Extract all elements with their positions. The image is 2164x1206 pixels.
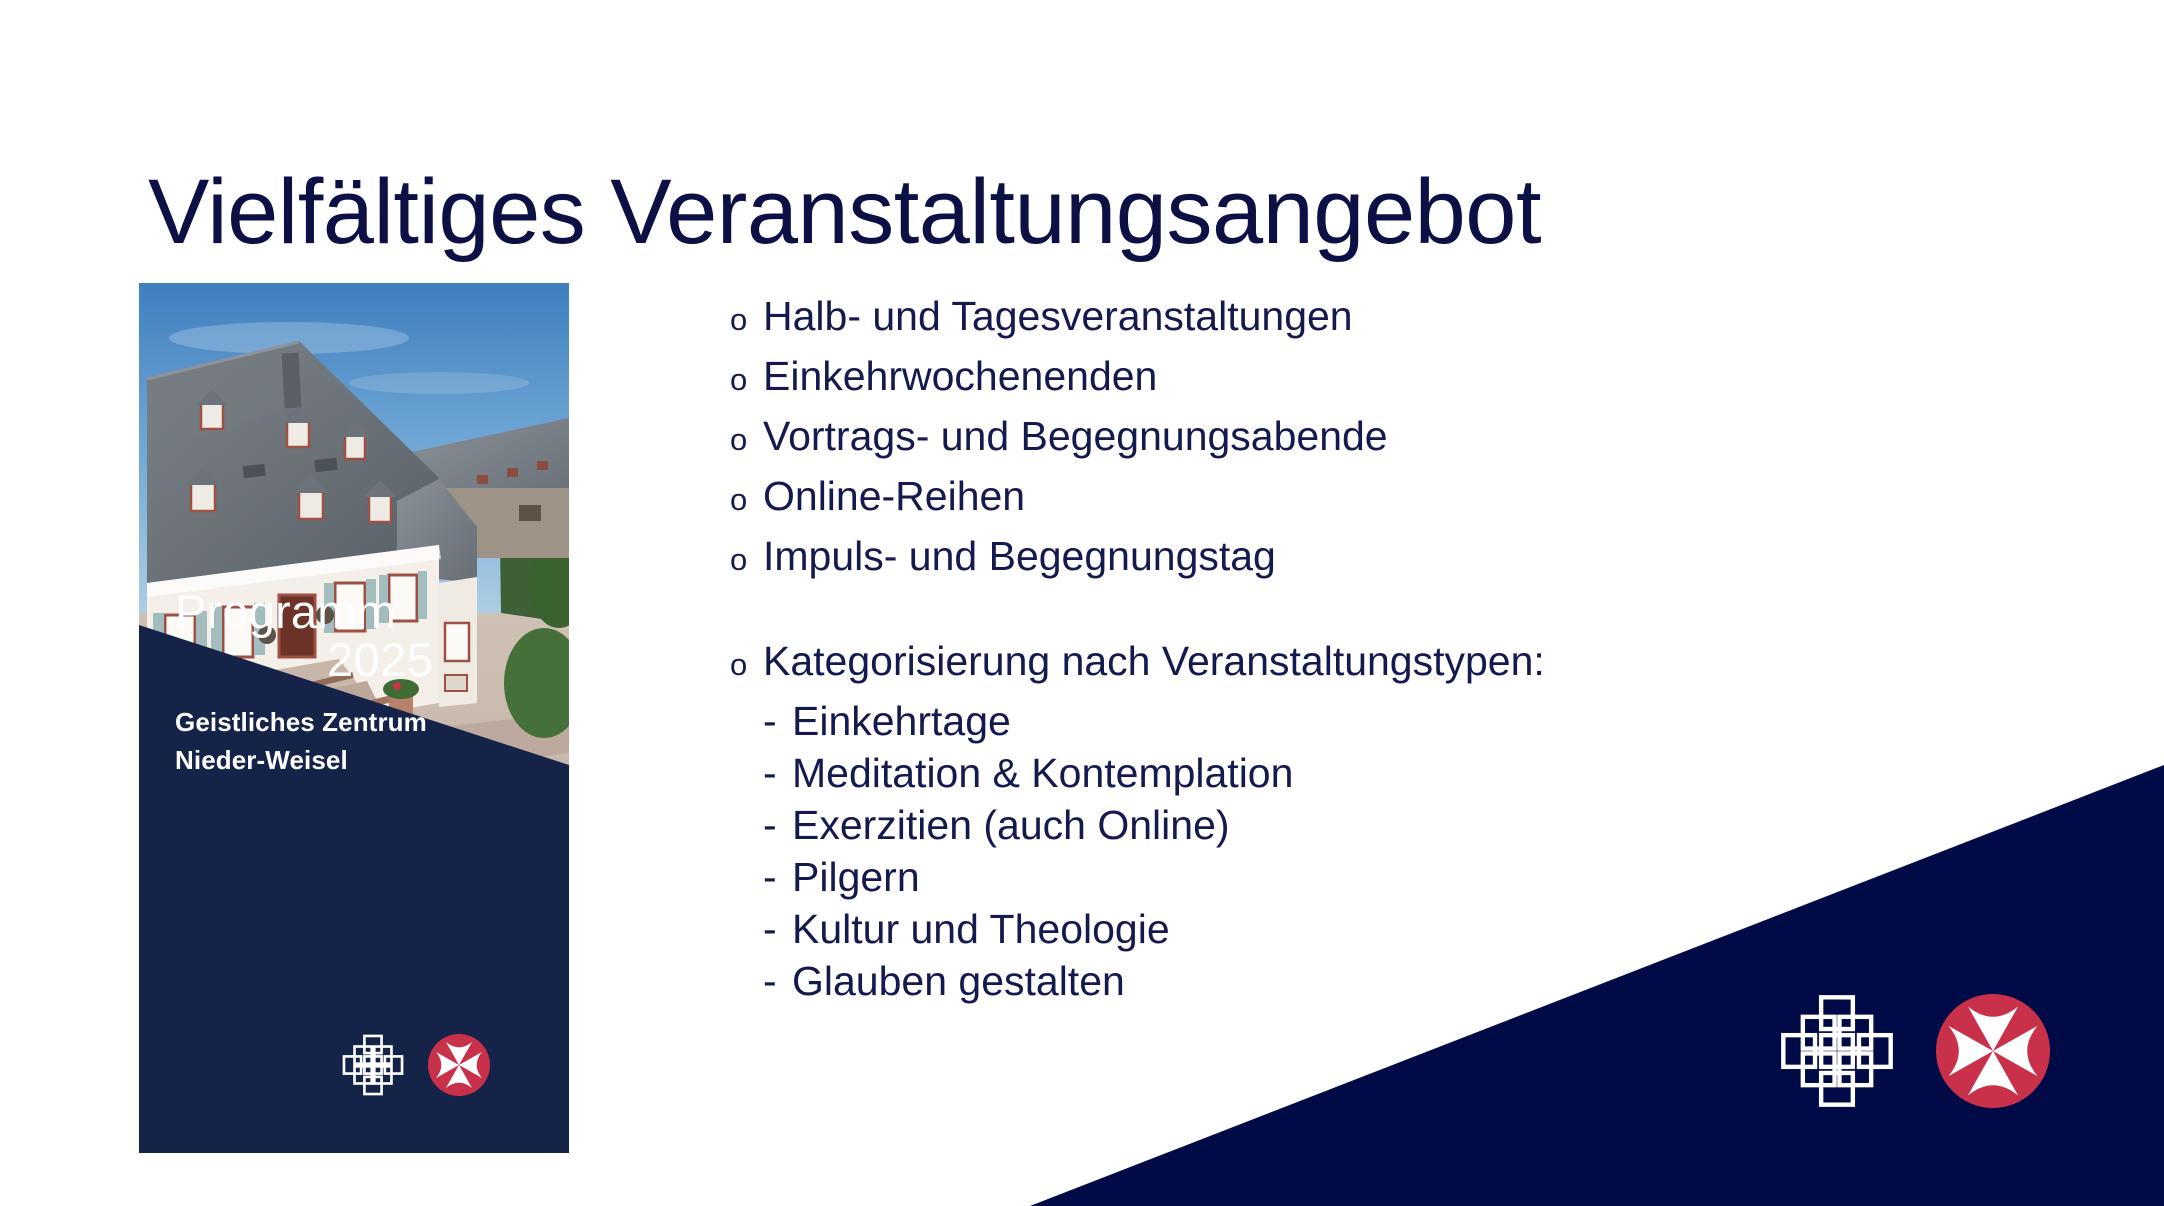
johanniter-cross-logo xyxy=(1776,990,1898,1112)
list-item-label: Impuls- und Begegnungstag xyxy=(763,536,1990,577)
booklet-year-label: 2025 xyxy=(175,635,535,684)
list-item-label: Einkehrwochenenden xyxy=(763,356,1990,397)
booklet-logo-group xyxy=(340,1032,490,1098)
bullet-circle-icon: o xyxy=(730,649,763,680)
list-item-label: Vortrags- und Begegnungsabende xyxy=(763,416,1990,457)
event-offer-list: o Halb- und Tagesveranstaltungen o Einke… xyxy=(730,296,1990,1013)
list-item: o Online-Reihen xyxy=(730,476,1990,517)
list-item: o Einkehrwochenenden xyxy=(730,356,1990,397)
malteser-cross-logo xyxy=(1936,994,2050,1108)
dash-icon: - xyxy=(763,909,792,950)
sub-list-item-label: Kultur und Theologie xyxy=(792,909,1170,950)
slide-canvas: Vielfältiges Veranstaltungsangebot xyxy=(0,0,2164,1206)
sub-list-item: - Meditation & Kontemplation xyxy=(730,753,1990,794)
sub-list-item: - Kultur und Theologie xyxy=(730,909,1990,950)
bullet-circle-icon: o xyxy=(730,364,763,395)
sub-list-item-label: Einkehrtage xyxy=(792,701,1011,742)
johanniter-cross-logo xyxy=(340,1032,406,1098)
booklet-programm-label: Programm xyxy=(175,588,535,635)
list-item-categorisation: o Kategorisierung nach Veranstaltungstyp… xyxy=(730,641,1990,682)
sub-list-item-label: Pilgern xyxy=(792,857,920,898)
booklet-org-line-2: Nieder-Weisel xyxy=(175,742,535,780)
sub-list-item: - Einkehrtage xyxy=(730,701,1990,742)
bullet-circle-icon: o xyxy=(730,484,763,515)
list-group-spacer xyxy=(730,596,1990,641)
dash-icon: - xyxy=(763,753,792,794)
programme-booklet-cover: Programm 2025 Geistliches Zentrum Nieder… xyxy=(139,283,569,1153)
list-item: o Halb- und Tagesveranstaltungen xyxy=(730,296,1990,337)
list-item-label: Halb- und Tagesveranstaltungen xyxy=(763,296,1990,337)
dash-icon: - xyxy=(763,701,792,742)
bullet-circle-icon: o xyxy=(730,304,763,335)
sub-list-item-label: Meditation & Kontemplation xyxy=(792,753,1293,794)
sub-list-item-label: Glauben gestalten xyxy=(792,961,1125,1002)
bullet-circle-icon: o xyxy=(730,424,763,455)
malteser-cross-logo xyxy=(428,1034,490,1096)
dash-icon: - xyxy=(763,857,792,898)
corner-logo-group xyxy=(1776,990,2050,1112)
sub-list-item-label: Exerzitien (auch Online) xyxy=(792,805,1230,846)
booklet-org-line-1: Geistliches Zentrum xyxy=(175,704,535,742)
booklet-title-block: Programm 2025 Geistliches Zentrum Nieder… xyxy=(175,588,535,780)
list-item: o Vortrags- und Begegnungsabende xyxy=(730,416,1990,457)
list-item-label: Online-Reihen xyxy=(763,476,1990,517)
dash-icon: - xyxy=(763,961,792,1002)
dash-icon: - xyxy=(763,805,792,846)
sub-list-item: - Pilgern xyxy=(730,857,1990,898)
sub-list-item: - Exerzitien (auch Online) xyxy=(730,805,1990,846)
list-item: o Impuls- und Begegnungstag xyxy=(730,536,1990,577)
list-item-label: Kategorisierung nach Veranstaltungstypen… xyxy=(763,641,1990,682)
page-title: Vielfältiges Veranstaltungsangebot xyxy=(148,164,2048,261)
bullet-circle-icon: o xyxy=(730,544,763,575)
